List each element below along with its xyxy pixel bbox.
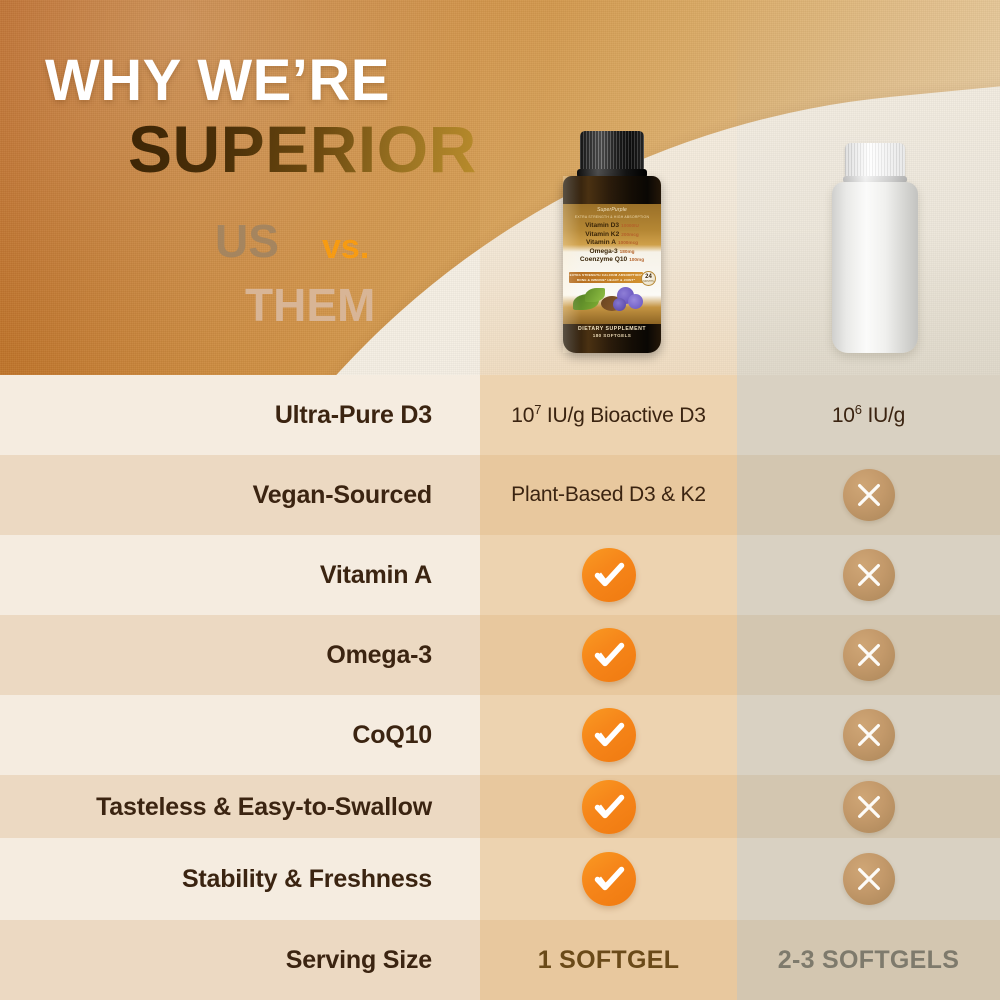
check-icon [582,708,636,762]
value-prefix: 10 [511,404,534,427]
table-row: Tasteless & Easy-to-Swallow [0,775,1000,838]
header-banner: WHY WE’RE SUPERIOR US vs. THEM SuperPurp… [0,0,1000,375]
ingredient-amount: 10000IU [621,222,639,231]
ingredient-name: Vitamin A [586,239,616,248]
check-icon [582,780,636,834]
feature-cell: CoQ10 [0,695,480,775]
table-row: Ultra-Pure D3107 IU/g Bioactive D3106 IU… [0,375,1000,455]
value-prefix: Plant-Based D3 & K2 [511,483,706,506]
cross-icon [843,469,895,521]
ingredient-row: Vitamin K2 200mcg [567,231,657,240]
flower-petal [628,294,643,309]
competitor-bottle-body [832,182,918,353]
check-icon [582,852,636,906]
feature-cell: Tasteless & Easy-to-Swallow [0,775,480,838]
cross-icon [843,781,895,833]
feature-label: Serving Size [286,945,432,975]
feature-cell: Vitamin A [0,535,480,615]
them-value-cell [737,535,1000,615]
us-value-cell [480,535,737,615]
value-prefix: 10 [832,404,855,427]
comparison-table: Ultra-Pure D3107 IU/g Bioactive D3106 IU… [0,375,1000,1000]
bottle-body: SuperPurple EXTRA STRENGTH & HIGH ABSORP… [563,176,661,353]
them-value-cell [737,455,1000,535]
us-value-cell [480,695,737,775]
flower-petal [613,298,626,311]
bottle-botanical-artwork [571,284,653,314]
cross-icon [843,629,895,681]
us-value-cell: Plant-Based D3 & K2 [480,455,737,535]
value-text: 106 IU/g [832,402,905,428]
feature-cell: Omega-3 [0,615,480,695]
claim-line-2: BONE & IMMUNE* HEART & JOINT* [577,278,635,282]
check-icon [582,628,636,682]
ingredient-name: Vitamin D3 [585,222,619,231]
table-row: Stability & Freshness [0,838,1000,920]
bottle-footer-line1: DIETARY SUPPLEMENT [563,326,661,333]
feature-label: Stability & Freshness [182,864,432,894]
table-row: Serving Size1 SOFTGEL2-3 SOFTGELS [0,920,1000,1000]
bottle-footer-line2: 180 SOFTGELS [563,333,661,339]
cross-icon [843,709,895,761]
value-suffix: IU/g [862,404,905,427]
value-prefix: 1 SOFTGEL [538,946,680,974]
ingredient-name: Omega-3 [589,248,617,257]
bottle-footer: DIETARY SUPPLEMENT 180 SOFTGELS [563,326,661,339]
value-suffix: IU/g Bioactive D3 [541,404,705,427]
feature-label: Omega-3 [326,640,432,670]
feature-label: Vitamin A [320,560,432,590]
page-title-line1: WHY WE’RE [45,52,390,110]
feature-cell: Vegan-Sourced [0,455,480,535]
ingredient-amount: 200mcg [621,231,638,240]
cross-icon [843,853,895,905]
feature-cell: Serving Size [0,920,480,1000]
feature-cell: Ultra-Pure D3 [0,375,480,455]
feature-cell: Stability & Freshness [0,838,480,920]
table-row: Vitamin A [0,535,1000,615]
ingredient-amount: 180mg [620,248,635,257]
value-text: 107 IU/g Bioactive D3 [511,402,705,428]
bottle-ingredient-list: Vitamin D3 10000IU Vitamin K2 200mcg Vit… [567,222,657,265]
ingredient-row: Vitamin D3 10000IU [567,222,657,231]
bottle-tagline: EXTRA STRENGTH & HIGH ABSORPTION [563,215,661,219]
table-row: Vegan-SourcedPlant-Based D3 & K2 [0,455,1000,535]
ingredient-row: Omega-3 180mg [567,248,657,257]
ingredient-amount: 100mg [629,256,644,265]
them-value-cell: 106 IU/g [737,375,1000,455]
value-prefix: 2-3 SOFTGELS [778,946,959,974]
value-text: Plant-Based D3 & K2 [511,483,706,507]
cross-icon [843,549,895,601]
table-row: Omega-3 [0,615,1000,695]
us-value-cell: 107 IU/g Bioactive D3 [480,375,737,455]
ingredient-row: Vitamin A 1000mcg [567,239,657,248]
competitor-bottle [828,143,922,353]
us-value-cell [480,775,737,838]
them-value-cell [737,838,1000,920]
value-exponent: 6 [855,402,862,417]
ingredient-name: Vitamin K2 [585,231,619,240]
them-value-cell: 2-3 SOFTGELS [737,920,1000,1000]
table-row: CoQ10 [0,695,1000,775]
competitor-bottle-cap [845,143,905,178]
feature-label: Ultra-Pure D3 [275,400,432,430]
feature-label: Vegan-Sourced [253,480,432,510]
ingredient-amount: 1000mcg [618,239,638,248]
feature-label: CoQ10 [352,720,432,750]
bottle-claim-banner: EXTRA STRENGTH CALCIUM ABSORPTION* BONE … [569,272,643,283]
ingredient-name: Coenzyme Q10 [580,256,627,265]
badge-unit: MONTHS [643,280,653,283]
us-value-cell [480,615,737,695]
our-product-bottle: SuperPurple EXTRA STRENGTH & HIGH ABSORP… [553,131,671,353]
versus-label: vs. [322,230,369,264]
infographic-canvas: WHY WE’RE SUPERIOR US vs. THEM SuperPurp… [0,0,1000,1000]
feature-label: Tasteless & Easy-to-Swallow [96,792,432,822]
column-header-us: US [215,218,279,264]
check-icon [582,548,636,602]
column-header-them: THEM [245,282,375,328]
bottle-brand-name: SuperPurple [563,207,661,213]
us-value-cell [480,838,737,920]
serving-size-value: 1 SOFTGEL [538,946,680,975]
them-value-cell [737,615,1000,695]
ingredient-row: Coenzyme Q10 100mg [567,256,657,265]
them-value-cell [737,775,1000,838]
them-value-cell [737,695,1000,775]
serving-size-value: 2-3 SOFTGELS [778,946,959,975]
bottle-cap [580,131,644,171]
us-value-cell: 1 SOFTGEL [480,920,737,1000]
page-title-line2: SUPERIOR [128,116,477,182]
